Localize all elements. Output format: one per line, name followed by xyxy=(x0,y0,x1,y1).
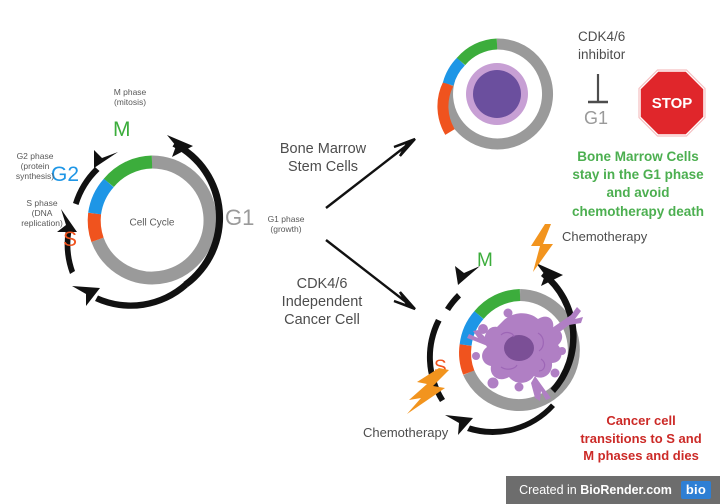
ring-segment-s xyxy=(94,214,97,240)
cancer-cell-bleb-7 xyxy=(504,309,513,318)
phase-label-m: M xyxy=(113,118,131,142)
arrow-head-upper-left xyxy=(94,150,118,168)
cycle-center-label: Cell Cycle xyxy=(129,218,174,229)
cell-nucleus xyxy=(473,70,521,118)
branch-label-cancer-cell: CDK4/6 Independent Cancer Cell xyxy=(266,275,378,329)
chemotherapy-label-top: Chemotherapy xyxy=(562,230,647,245)
footer-brand: BioRender.com xyxy=(580,483,672,497)
bm-ring-segment-m xyxy=(461,44,497,62)
cancer-cell-bleb-6 xyxy=(558,347,566,355)
ring-segment-g2 xyxy=(95,183,109,214)
cc-arrow-arc-upper-left xyxy=(445,293,461,311)
cancer-cell-bleb-2 xyxy=(472,352,480,360)
stop-sign-text: STOP xyxy=(652,95,693,112)
caption-s-phase: S phase (DNA replication) xyxy=(8,199,76,228)
chemotherapy-bolt-top xyxy=(527,224,559,272)
chemotherapy-bolt-bottom xyxy=(405,368,451,420)
biorender-footer: Created in BioRender.com bio xyxy=(506,476,720,504)
cancer-phase-label-m: M xyxy=(477,250,493,272)
cancer-cell-bleb-3 xyxy=(488,378,499,389)
biorender-logo-badge: bio xyxy=(681,481,711,499)
bone-marrow-panel xyxy=(425,22,570,172)
figure-canvas: Cell Cycle M G2 S G1 M phase (mitosis) G… xyxy=(0,0,720,504)
ring-segment-m xyxy=(109,162,152,183)
arrow-arc-bottom xyxy=(95,282,188,309)
chemotherapy-label-bottom: Chemotherapy xyxy=(363,426,448,441)
caption-m-phase: M phase (mitosis) xyxy=(90,88,170,108)
bm-ring-segment-g2 xyxy=(448,62,461,85)
cancer-cell-bleb-5 xyxy=(551,369,560,378)
bone-marrow-cycle-svg xyxy=(425,22,570,172)
arrow-head-bottom-left xyxy=(72,286,100,306)
bone-marrow-outcome-text: Bone Marrow Cells stay in the G1 phase a… xyxy=(556,148,720,221)
cancer-cell-nucleus xyxy=(504,335,534,361)
inhibition-target-label: G1 xyxy=(584,108,608,129)
cancer-cell-bleb-1 xyxy=(478,324,488,334)
footer-text: Created in BioRender.com xyxy=(519,483,672,497)
cancer-outcome-text: Cancer cell transitions to S and M phase… xyxy=(562,412,720,465)
phase-label-s: S xyxy=(63,228,77,252)
caption-g1-phase: G1 phase (growth) xyxy=(255,215,317,235)
cdk-inhibitor-label: CDK4/6 inhibitor xyxy=(578,28,625,64)
caption-g2-phase: G2 phase (protein synthesis) xyxy=(0,152,70,181)
lightning-bolt-icon xyxy=(531,224,553,272)
stop-sign: STOP xyxy=(637,68,707,138)
inhibition-symbol xyxy=(585,72,615,112)
cancer-cell-bleb-4 xyxy=(515,383,524,392)
cc-ring-segment-s xyxy=(465,345,469,373)
lightning-bolt-icon xyxy=(407,368,449,414)
footer-prefix: Created in xyxy=(519,483,580,497)
branch-label-bone-marrow: Bone Marrow Stem Cells xyxy=(268,140,378,176)
phase-label-g1: G1 xyxy=(225,205,254,230)
cc-ring-segment-m xyxy=(479,295,520,315)
